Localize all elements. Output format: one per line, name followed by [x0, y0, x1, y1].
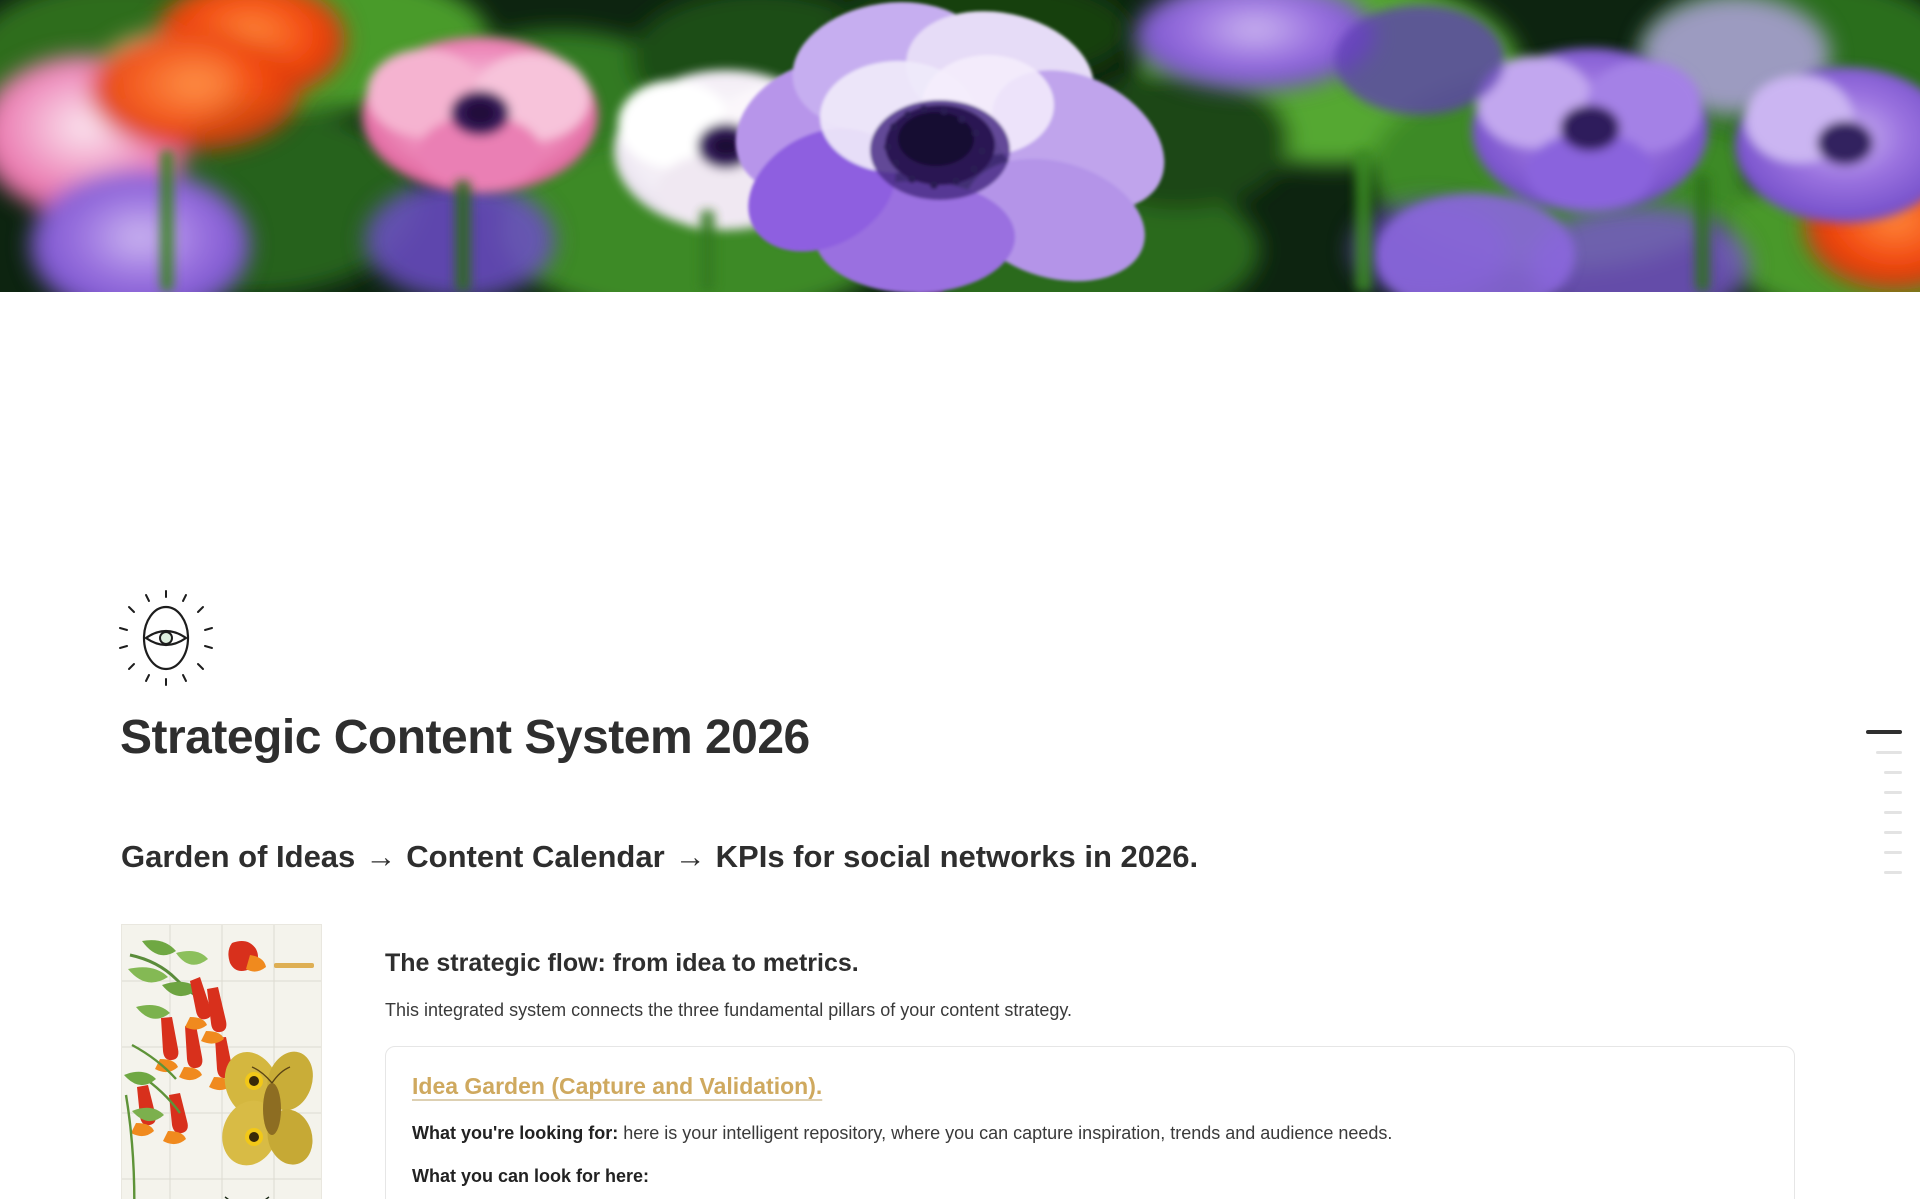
flow-arrow-icon: →: [355, 839, 406, 874]
section-lede: This integrated system connects the thre…: [385, 997, 1795, 1024]
section-heading: The strategic flow: from idea to metrics…: [385, 947, 1795, 981]
list-label: What you can look for here:: [412, 1166, 1768, 1187]
main-content: The strategic flow: from idea to metrics…: [385, 947, 1795, 1199]
toc-mark[interactable]: [1884, 871, 1902, 874]
flow-step-3: KPIs for social networks in 2026.: [716, 839, 1198, 874]
toc-mark[interactable]: [1884, 791, 1902, 794]
flow-arrow-icon-2: →: [665, 839, 716, 874]
table-of-contents-minimap[interactable]: [1832, 730, 1902, 874]
looking-for-label: What you're looking for:: [412, 1123, 618, 1143]
looking-for-text: here is your intelligent repository, whe…: [618, 1123, 1392, 1143]
page-title: Strategic Content System 2026: [120, 710, 810, 767]
idea-garden-link[interactable]: Idea Garden (Capture and Validation).: [412, 1073, 822, 1100]
idea-garden-looking-for: What you're looking for: here is your in…: [412, 1120, 1768, 1148]
toc-mark[interactable]: [1884, 811, 1902, 814]
botanical-illustration: [121, 924, 322, 1199]
hero-banner: [0, 0, 1920, 292]
breadcrumb-flow: Garden of Ideas→Content Calendar→KPIs fo…: [121, 837, 1198, 877]
flow-step-2: Content Calendar: [406, 839, 664, 874]
card-idea-garden: Idea Garden (Capture and Validation). Wh…: [385, 1046, 1795, 1199]
toc-mark[interactable]: [1884, 771, 1902, 774]
flow-step-1: Garden of Ideas: [121, 839, 355, 874]
toc-mark[interactable]: [1884, 851, 1902, 854]
toc-mark-active[interactable]: [1866, 730, 1902, 734]
eye-with-rays-icon: [118, 590, 214, 686]
hero-image: [0, 0, 1920, 292]
toc-mark[interactable]: [1884, 831, 1902, 834]
toc-mark[interactable]: [1876, 751, 1902, 754]
